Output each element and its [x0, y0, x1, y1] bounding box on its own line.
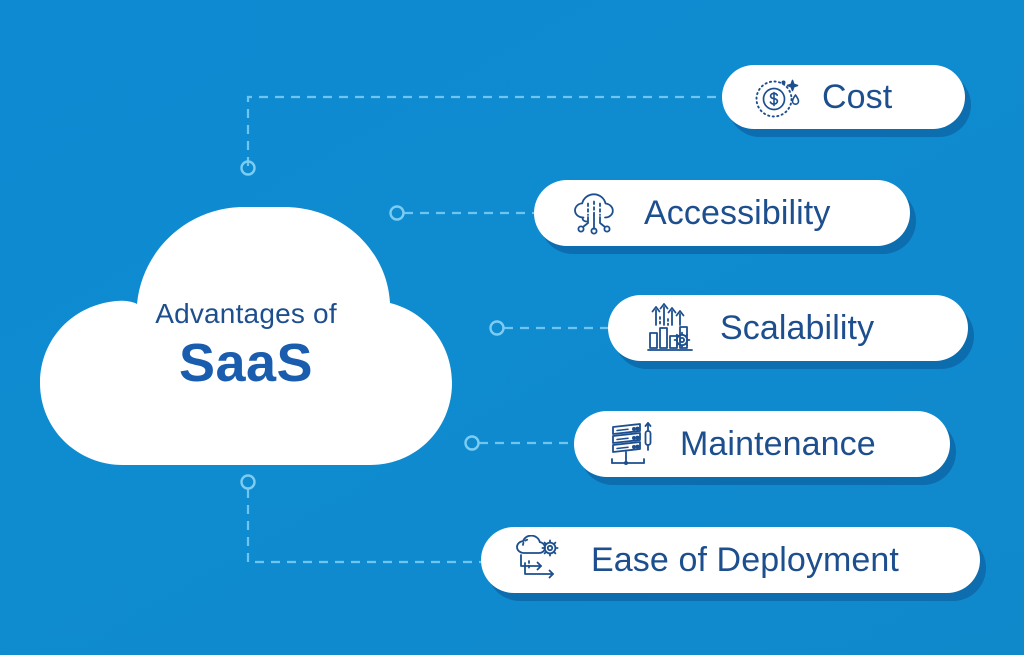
item-label-deployment: Ease of Deployment	[591, 541, 899, 579]
connector-deployment	[248, 489, 487, 562]
center-cloud: Advantages of SaaS	[38, 205, 454, 467]
cloud-title-line-2: SaaS	[38, 333, 454, 393]
item-pill-cost[interactable]: Cost	[722, 65, 965, 129]
item-pill-maintenance[interactable]: Maintenance	[574, 411, 950, 477]
item-label-maintenance: Maintenance	[680, 425, 876, 463]
connector-dot-cost	[242, 162, 255, 175]
cloud-gear-arrows-icon	[511, 535, 569, 585]
item-label-scalability: Scalability	[720, 309, 874, 347]
item-pill-accessibility[interactable]: Accessibility	[534, 180, 910, 246]
connector-dot-deployment	[242, 476, 255, 489]
growth-bars-gear-icon	[644, 303, 700, 353]
dollar-coin-orbit-icon	[752, 74, 802, 120]
server-screwdriver-icon	[604, 419, 660, 469]
cloud-network-nodes-icon	[568, 190, 622, 236]
infographic-canvas: Advantages of SaaS C	[0, 0, 1024, 655]
item-pill-deployment[interactable]: Ease of Deployment	[481, 527, 980, 593]
item-label-cost: Cost	[822, 78, 892, 116]
cloud-title-block: Advantages of SaaS	[38, 297, 454, 393]
cloud-title-line-1: Advantages of	[38, 297, 454, 331]
item-label-accessibility: Accessibility	[644, 194, 830, 232]
connector-dot-scalability	[491, 322, 504, 335]
connector-cost	[248, 97, 724, 166]
item-pill-scalability[interactable]: Scalability	[608, 295, 968, 361]
connector-dot-maintenance	[466, 437, 479, 450]
